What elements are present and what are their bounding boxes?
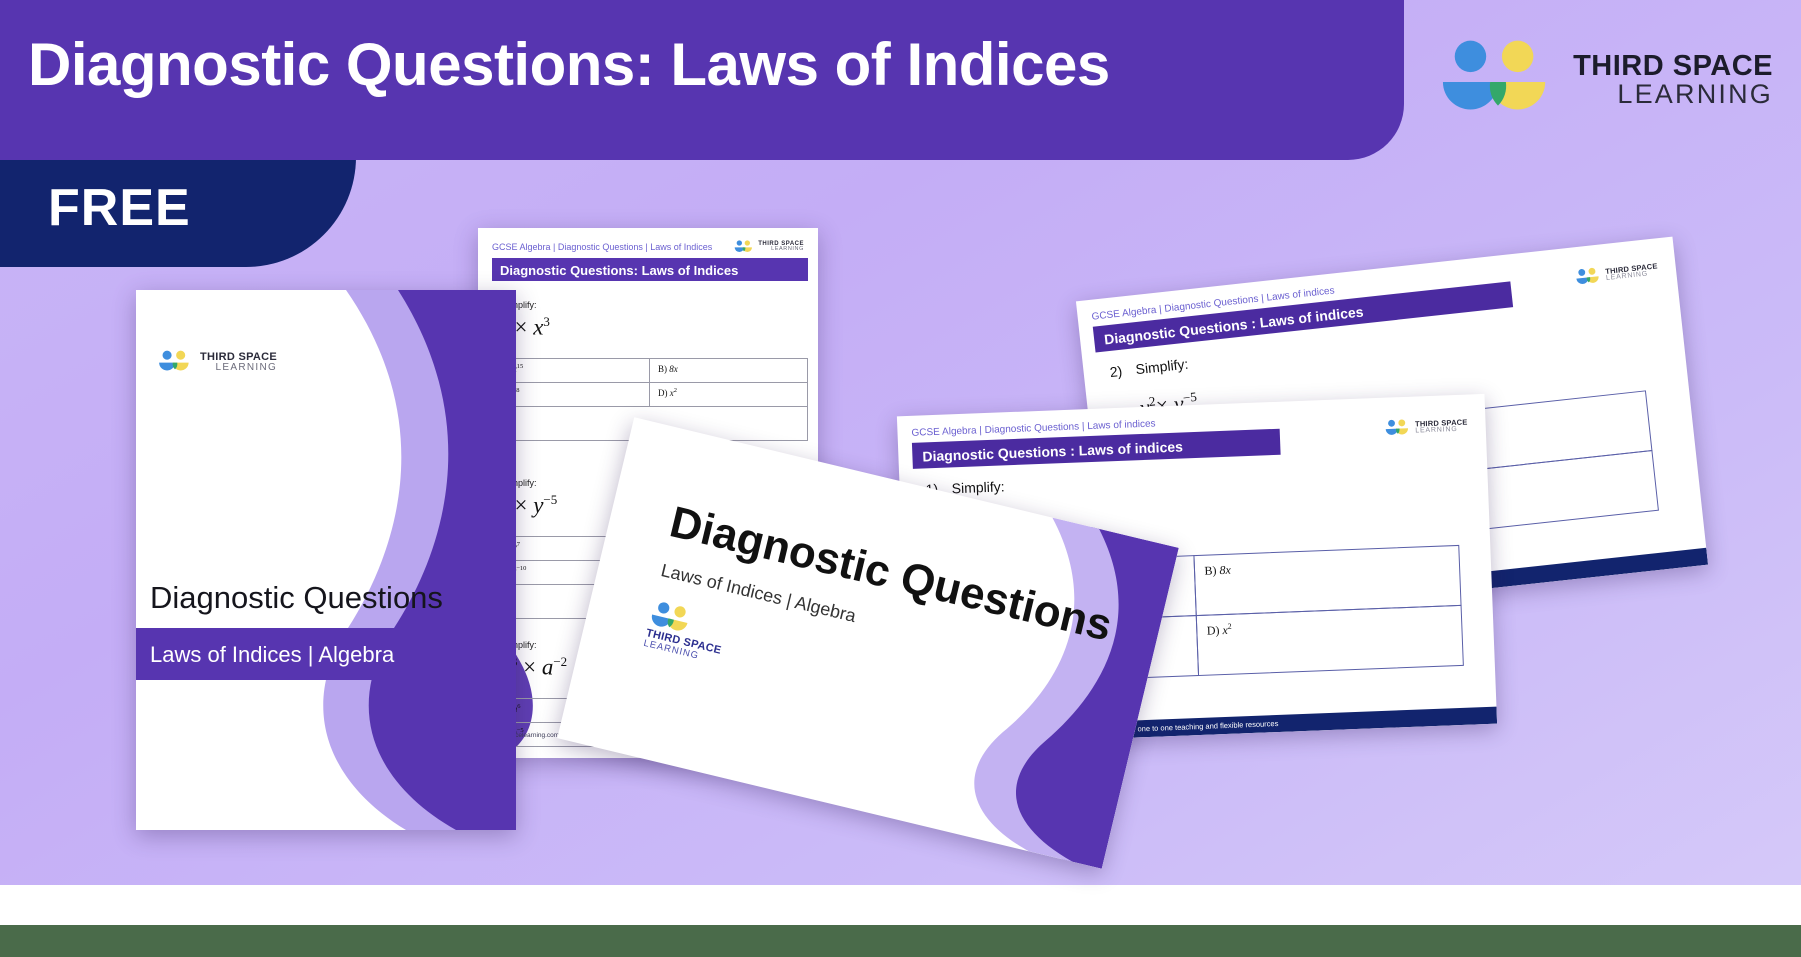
worksheet-breadcrumb: GCSE Algebra | Diagnostic Questions | La…: [492, 242, 712, 252]
bottom-strip: [0, 925, 1801, 957]
free-badge-label: FREE: [48, 178, 191, 238]
slide-front-prompt: Simplify:: [951, 478, 1004, 496]
third-space-learning-icon: [1439, 38, 1557, 122]
third-space-learning-icon: [1384, 419, 1411, 438]
slide-front-option-d[interactable]: D) x2: [1195, 604, 1463, 675]
slide-back-question-number: 2): [1109, 363, 1123, 380]
brand-logo[interactable]: THIRD SPACE LEARNING: [1439, 38, 1773, 122]
worksheet-brand-logo: THIRD SPACE LEARNING: [734, 240, 804, 254]
cover-brand-line2: LEARNING: [200, 363, 277, 373]
page-title: Diagnostic Questions: Laws of Indices: [28, 30, 1110, 99]
brand-line2: LEARNING: [1573, 81, 1773, 108]
slide-front-brand-line2: LEARNING: [1415, 426, 1468, 435]
slide-back-prompt: Simplify:: [1135, 356, 1189, 378]
cover-title: Diagnostic Questions: [150, 580, 443, 616]
ws-q1-option-d[interactable]: D) x2: [650, 383, 807, 406]
cover-brand-line1: THIRD SPACE: [200, 352, 277, 363]
ws-q1-option-a[interactable]: A) x15: [493, 359, 650, 382]
slide-back-brand-logo: THIRD SPACE LEARNING: [1574, 260, 1659, 287]
third-space-learning-icon: [1574, 267, 1602, 288]
white-band: [0, 885, 1801, 925]
promo-banner: GCSE Algebra | Diagnostic Questions | La…: [0, 0, 1801, 957]
table-row: A) x15 B) 8x: [493, 359, 807, 383]
cover-document[interactable]: THIRD SPACE LEARNING Diagnostic Question…: [136, 290, 516, 830]
third-space-learning-icon: [734, 240, 754, 254]
ws-q1-option-b[interactable]: B) 8x: [650, 359, 807, 382]
worksheet-brand-line2: LEARNING: [758, 247, 804, 253]
third-space-learning-icon: [158, 350, 192, 374]
table-row: C) x8 D) x2: [493, 383, 807, 407]
ws-q1-expression: x5 × x3: [492, 314, 808, 341]
worksheet-title: Diagnostic Questions: Laws of Indices: [500, 263, 738, 278]
worksheet-question-1: 1) Simplify: x5 × x3: [492, 300, 808, 341]
slide-front-brand-logo: THIRD SPACE LEARNING: [1384, 417, 1468, 438]
ws-q1-option-c[interactable]: C) x8: [493, 383, 650, 406]
brand-line1: THIRD SPACE: [1573, 52, 1773, 81]
cover-subtitle: Laws of Indices | Algebra: [150, 642, 394, 668]
cover-brand-logo: THIRD SPACE LEARNING: [158, 350, 277, 374]
